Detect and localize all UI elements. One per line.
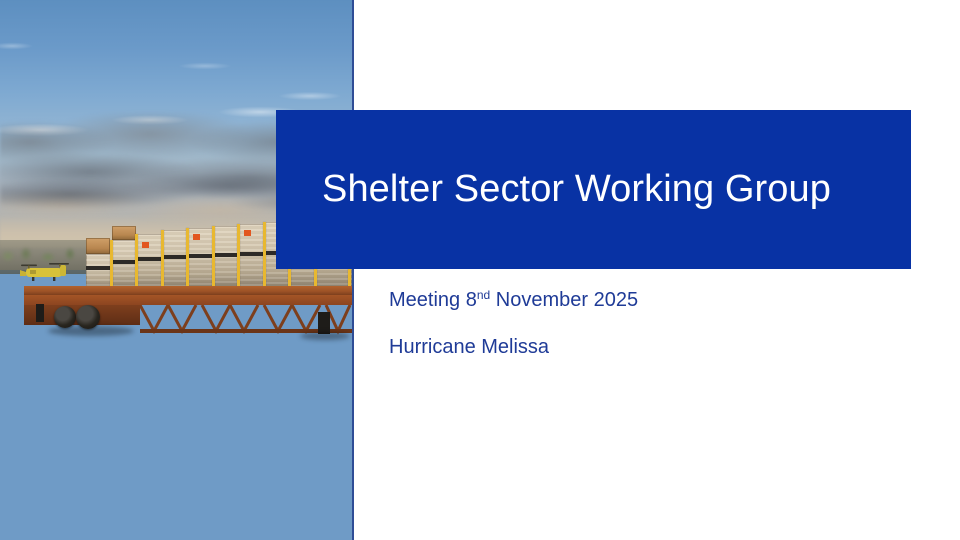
trailer-wheel	[76, 305, 100, 329]
trailer-wheel	[54, 306, 76, 328]
subtitle-event-name: Hurricane Melissa	[389, 335, 869, 360]
page-title: Shelter Sector Working Group	[276, 168, 831, 211]
subtitle-date-prefix: Meeting 8	[389, 289, 477, 311]
mudflap	[36, 304, 44, 322]
title-slide: Shelter Sector Working Group Meeting 8nd…	[0, 0, 960, 540]
wheel-shadow	[300, 332, 350, 340]
helicopter-icon	[18, 258, 76, 284]
photo-edge-line	[352, 0, 354, 540]
mudflap	[318, 312, 330, 334]
subtitle-meeting-date: Meeting 8nd November 2025	[389, 288, 869, 313]
trailer-deck	[24, 286, 352, 295]
subtitle-block: Meeting 8nd November 2025 Hurricane Meli…	[389, 288, 869, 360]
subtitle-date-ordinal: nd	[477, 288, 490, 302]
trailer-rail	[24, 295, 352, 305]
title-banner: Shelter Sector Working Group	[276, 110, 911, 269]
slide-photo	[0, 0, 352, 540]
subtitle-date-suffix: November 2025	[490, 289, 638, 311]
